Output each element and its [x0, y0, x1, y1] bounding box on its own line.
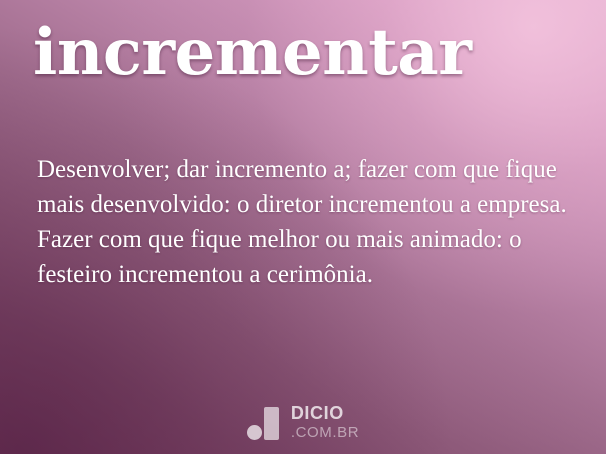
site-logo[interactable]: DICIO .COM.BR — [0, 404, 606, 440]
word-definition-card: incrementar Desenvolver; dar incremento … — [0, 0, 606, 454]
logo-wordmark: DICIO .COM.BR — [291, 404, 359, 440]
dicio-mark-icon — [247, 406, 281, 440]
definition-text: Desenvolver; dar incremento a; fazer com… — [37, 152, 571, 292]
logo-bar-shape — [264, 407, 279, 440]
logo-brand-label: DICIO — [291, 404, 359, 422]
page-title: incrementar — [33, 21, 471, 85]
definition-sense: Desenvolver; dar incremento a; fazer com… — [37, 152, 571, 222]
logo-tld-label: .COM.BR — [291, 425, 359, 440]
definition-sense: Fazer com que fique melhor ou mais anima… — [37, 222, 571, 292]
logo-circle-shape — [247, 425, 262, 440]
